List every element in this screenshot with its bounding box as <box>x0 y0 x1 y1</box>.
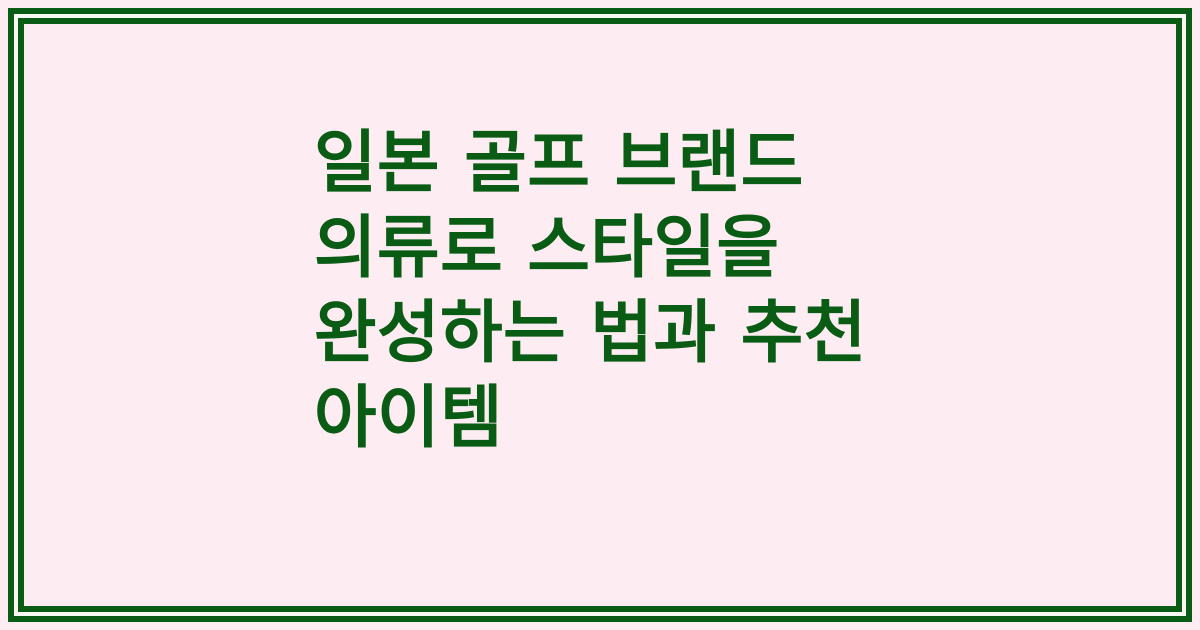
inner-border-frame: 일본 골프 브랜드 의류로 스타일을 완성하는 법과 추천 아이템 <box>18 18 1182 612</box>
headline-block: 일본 골프 브랜드 의류로 스타일을 완성하는 법과 추천 아이템 <box>24 121 907 509</box>
outer-border-frame: 일본 골프 브랜드 의류로 스타일을 완성하는 법과 추천 아이템 <box>8 8 1192 622</box>
headline-line-4: 아이템 <box>314 376 867 461</box>
headline-line-3: 완성하는 법과 추천 <box>314 291 867 376</box>
headline-line-1: 일본 골프 브랜드 <box>314 121 867 206</box>
headline-line-2: 의류로 스타일을 <box>314 206 867 291</box>
poster-canvas: 일본 골프 브랜드 의류로 스타일을 완성하는 법과 추천 아이템 <box>0 0 1200 630</box>
